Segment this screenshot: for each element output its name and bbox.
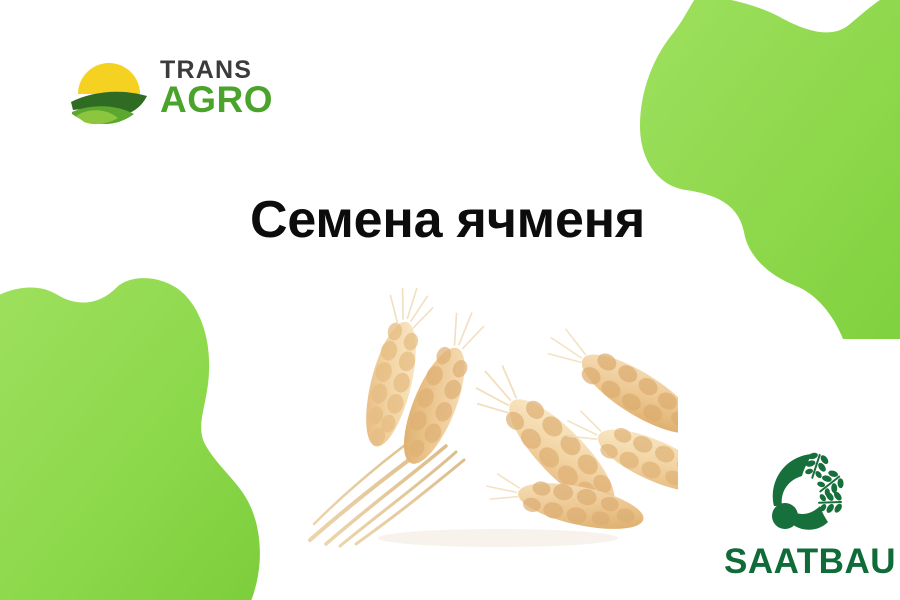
saatbau-logo[interactable]: SAATBAU bbox=[726, 446, 894, 586]
poster-canvas: TRANS AGRO Семена ячменя bbox=[0, 0, 900, 600]
brand-name-agro: AGRO bbox=[160, 83, 273, 117]
page-title: Семена ячменя bbox=[250, 190, 645, 250]
transagro-wordmark: TRANS AGRO bbox=[160, 57, 273, 117]
saatbau-wheat-circle-icon bbox=[758, 446, 862, 540]
transagro-logo[interactable]: TRANS AGRO bbox=[68, 48, 273, 126]
transagro-sun-field-icon bbox=[68, 48, 150, 126]
decorative-blob-bottom-left bbox=[0, 278, 270, 600]
barley-ears-photo bbox=[288, 288, 678, 558]
saatbau-wordmark: SAATBAU bbox=[724, 542, 896, 582]
